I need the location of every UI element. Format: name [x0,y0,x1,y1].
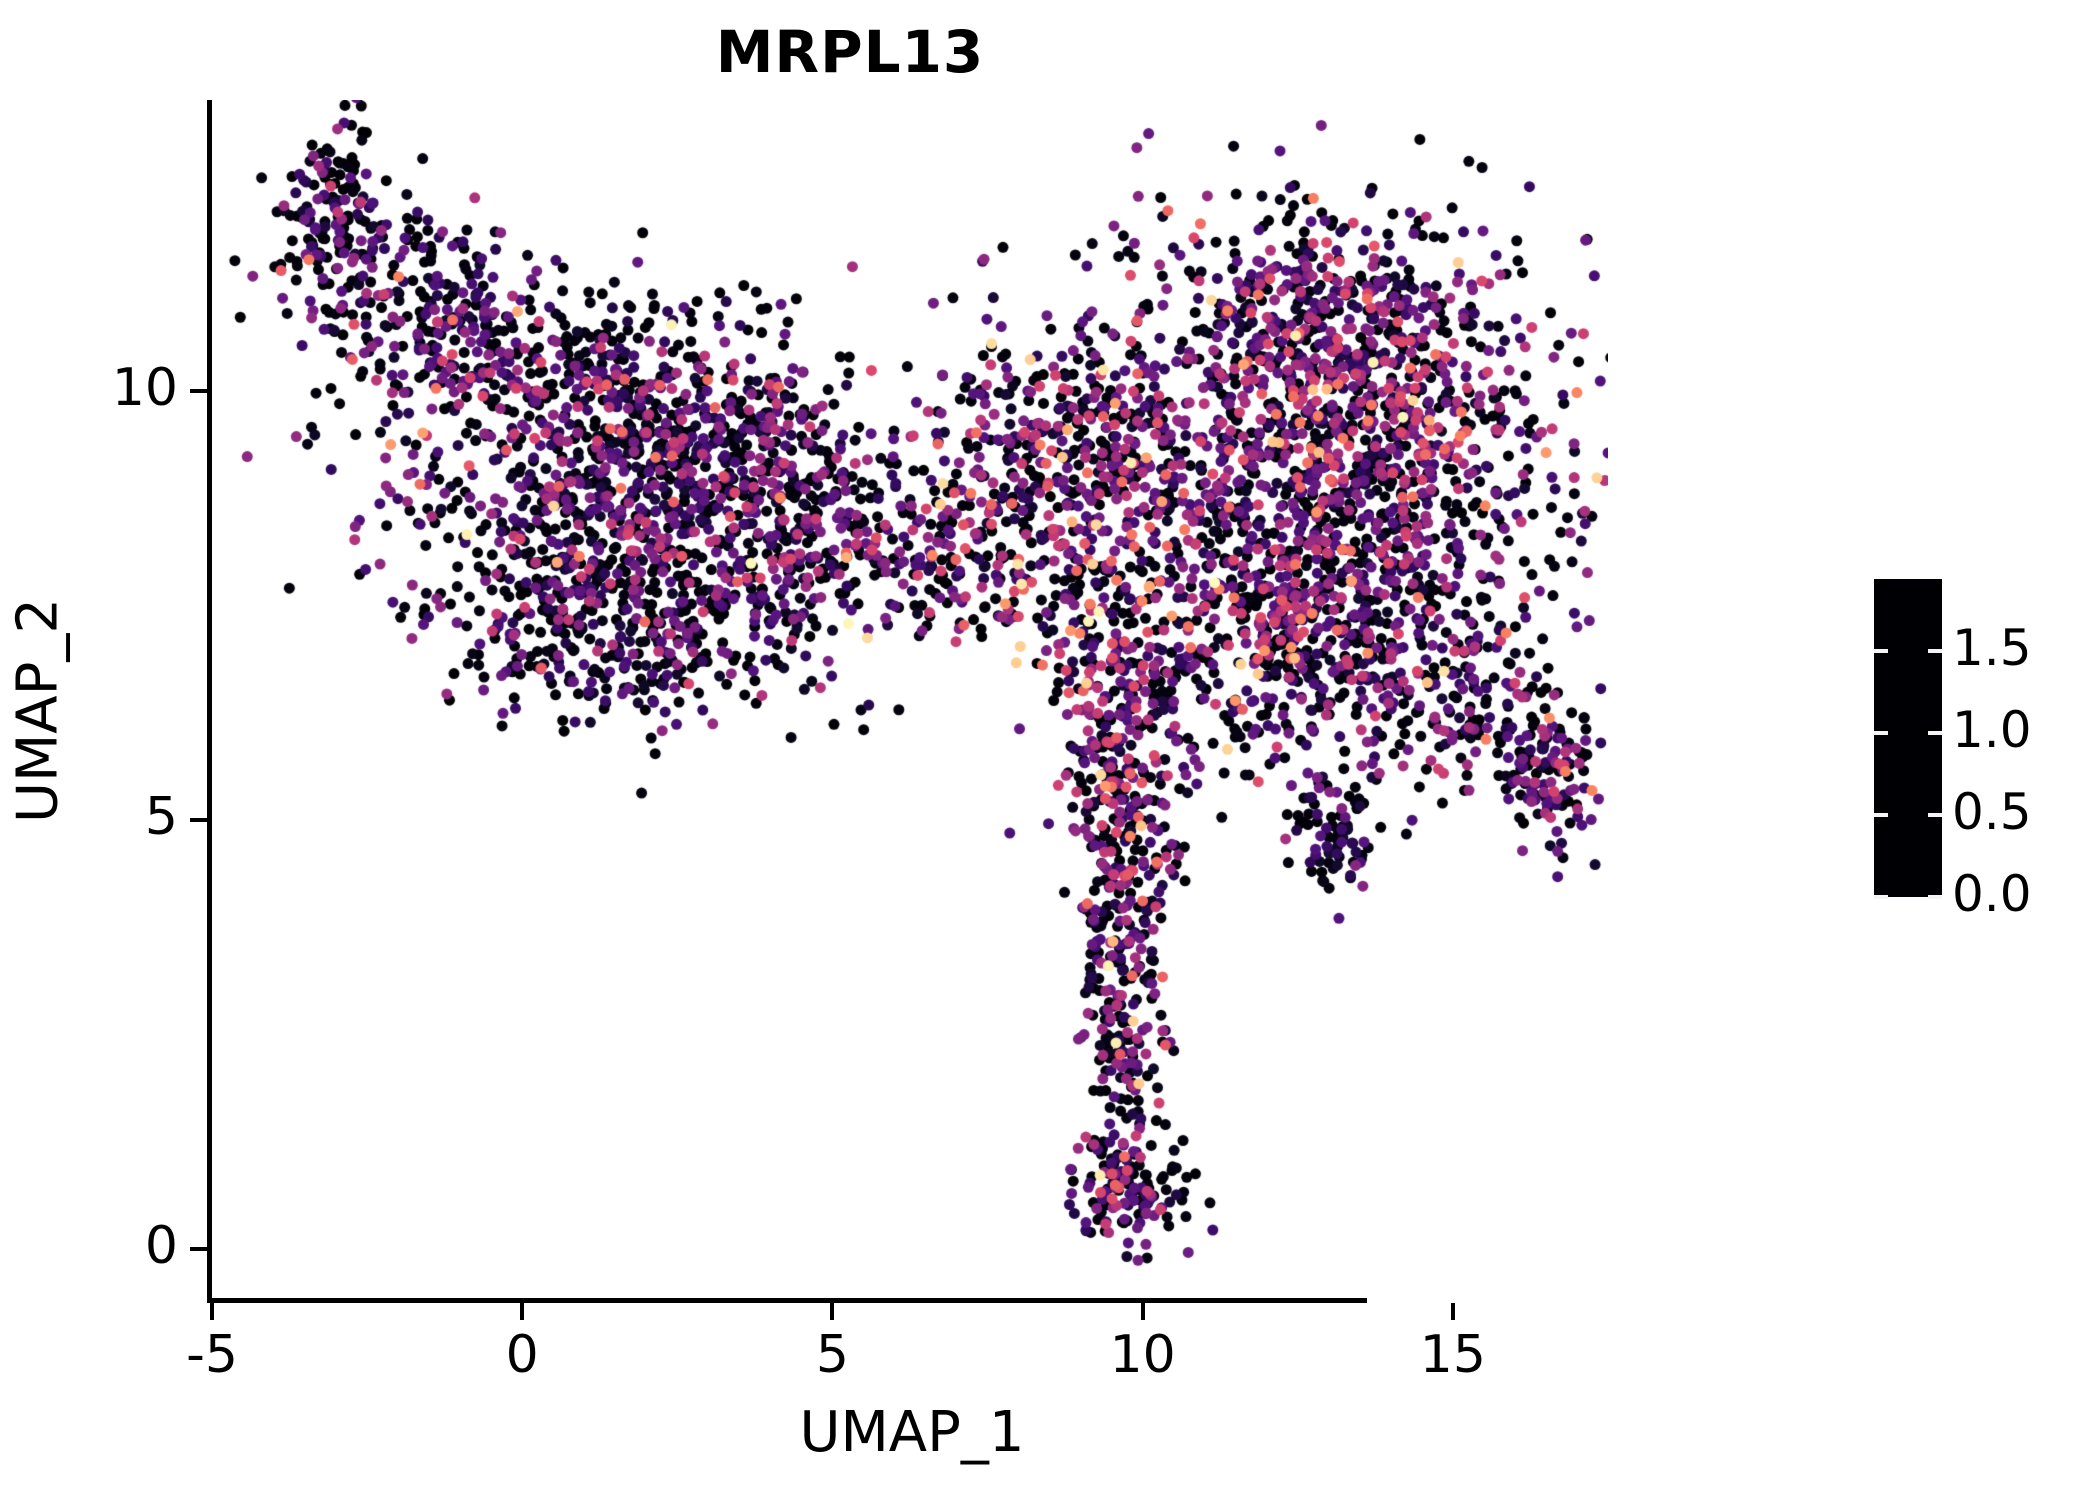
y-tick-label: 0 [0,1216,178,1276]
colorbar-tick-mark [1874,813,1888,817]
y-axis-spine [207,100,212,1303]
x-tick-label: -5 [132,1325,292,1385]
colorbar-tick-mark [1874,649,1888,653]
scatter-plot-area[interactable] [212,100,1608,1300]
x-tick-mark [1451,1303,1455,1320]
x-tick-mark [210,1303,214,1320]
x-tick-mark [1141,1303,1145,1320]
scatter-points [212,100,1608,1300]
colorbar-tick-mark [1928,895,1942,899]
x-tick-mark [520,1303,524,1320]
colorbar-tick-label: 0.0 [1952,865,2082,923]
colorbar-gradient [1874,579,1942,897]
y-tick-label: 10 [0,358,178,418]
x-tick-label: 5 [752,1325,912,1385]
y-tick-mark [190,389,207,393]
colorbar-tick-label: 0.5 [1952,783,2082,841]
x-axis-label: UMAP_1 [612,1400,1212,1465]
colorbar-tick-mark [1928,649,1942,653]
colorbar-tick-mark [1874,731,1888,735]
x-tick-label: 15 [1373,1325,1533,1385]
x-tick-mark [830,1303,834,1320]
x-tick-label: 10 [1063,1325,1223,1385]
colorbar-tick-mark [1874,895,1888,899]
y-axis-label: UMAP_2 [6,411,71,1011]
figure-root: MRPL13 -5051015 0510 UMAP_1 UMAP_2 0.00.… [0,0,2100,1500]
colorbar-tick-mark [1928,813,1942,817]
page-title: MRPL13 [0,18,1700,86]
x-axis-spine [207,1298,1367,1303]
colorbar-tick-label: 1.5 [1952,619,2082,677]
y-tick-mark [190,818,207,822]
colorbar-tick-mark [1928,731,1942,735]
x-tick-label: 0 [442,1325,602,1385]
colorbar[interactable]: 0.00.51.01.5 [1874,579,1942,897]
y-tick-mark [190,1247,207,1251]
colorbar-tick-label: 1.0 [1952,701,2082,759]
